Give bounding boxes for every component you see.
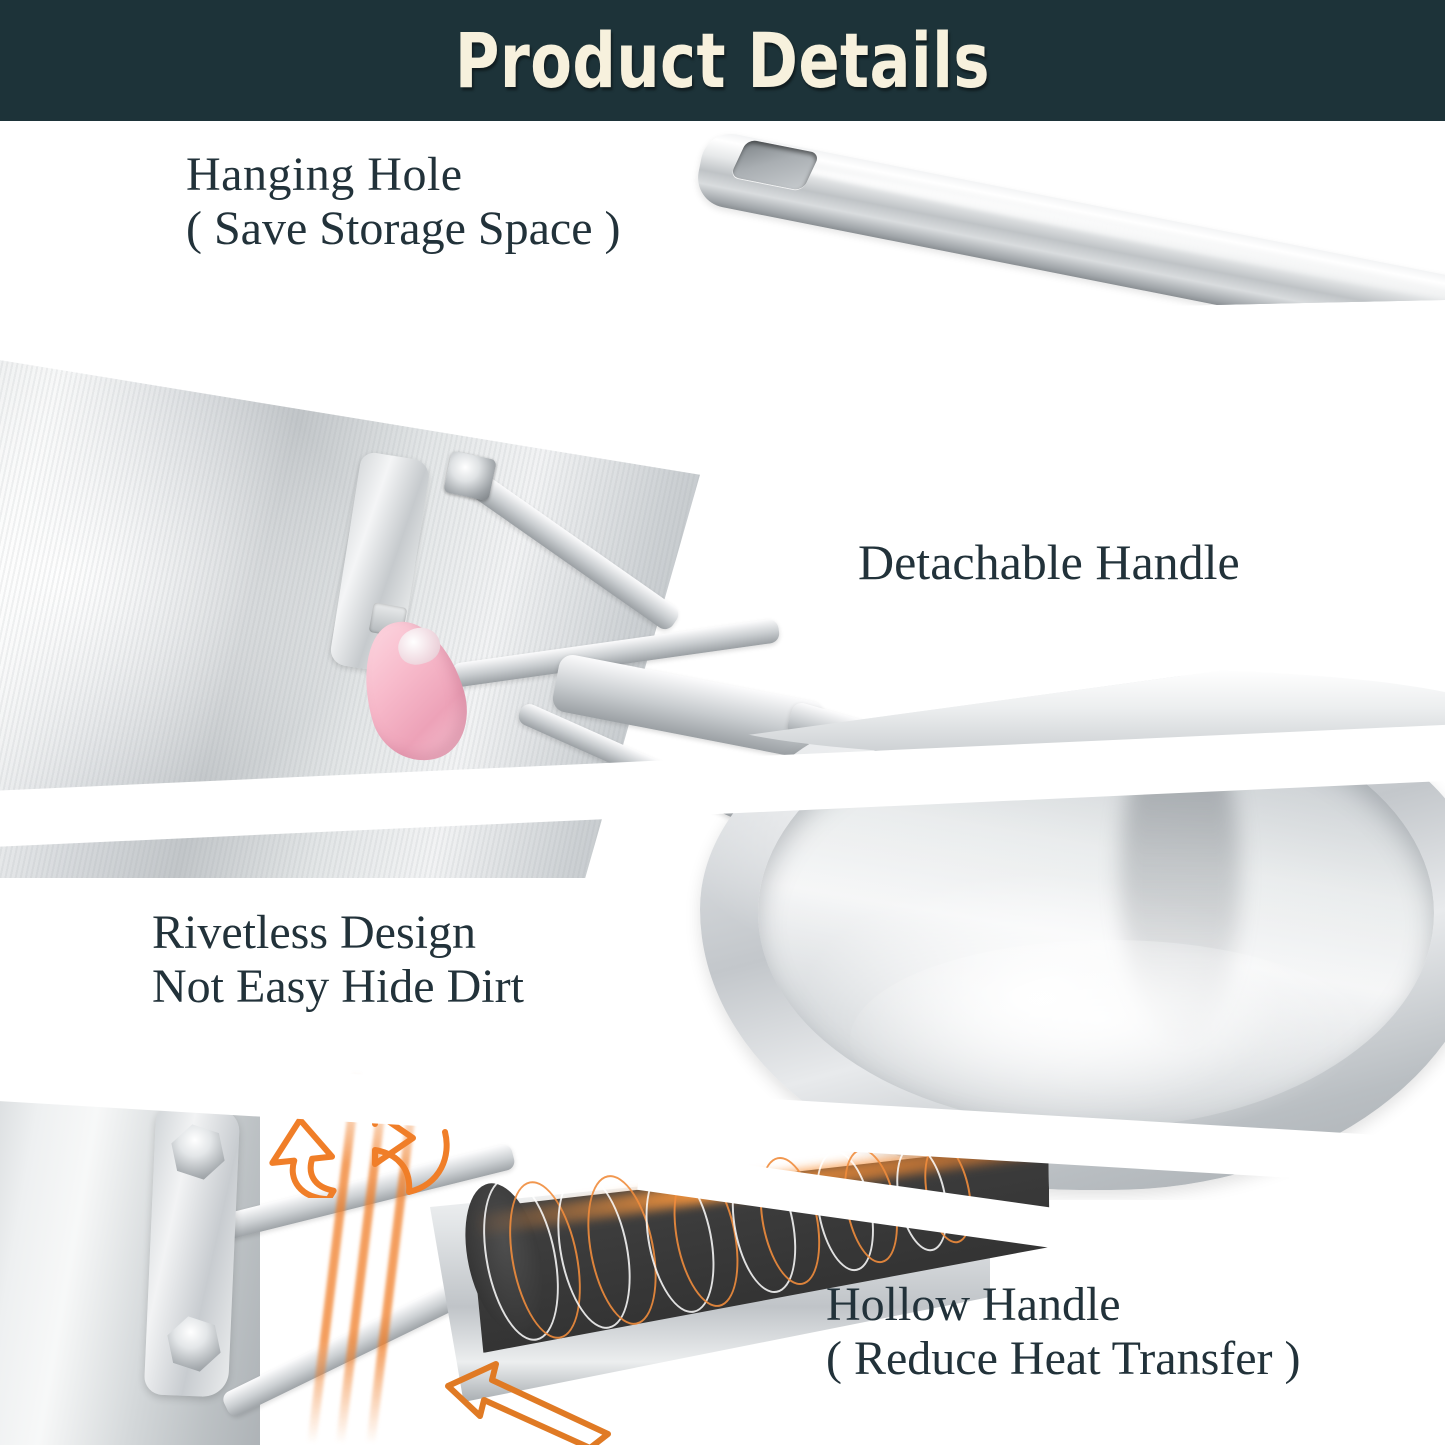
callout-hollow-handle-line2: ( Reduce Heat Transfer ) <box>826 1332 1301 1386</box>
callout-rivetless-design-line2: Not Easy Hide Dirt <box>152 960 524 1014</box>
page-title: Product Details <box>455 23 990 99</box>
product-details-infographic: Product Details <box>0 0 1445 1445</box>
callout-rivetless-design-line1: Rivetless Design <box>152 906 524 960</box>
callout-hollow-handle: Hollow Handle ( Reduce Heat Transfer ) <box>826 1278 1301 1386</box>
callout-hanging-hole-line2: ( Save Storage Space ) <box>186 202 621 256</box>
callout-hanging-hole-line1: Hanging Hole <box>186 148 621 202</box>
heat-arrow-bottom-icon <box>440 1358 615 1445</box>
callout-hollow-handle-line1: Hollow Handle <box>826 1278 1301 1332</box>
callout-hanging-hole: Hanging Hole ( Save Storage Space ) <box>186 148 621 256</box>
header-bar: Product Details <box>0 0 1445 121</box>
callout-rivetless-design: Rivetless Design Not Easy Hide Dirt <box>152 906 524 1014</box>
callout-detachable-handle: Detachable Handle <box>858 534 1240 590</box>
callout-detachable-handle-line1: Detachable Handle <box>858 534 1240 590</box>
